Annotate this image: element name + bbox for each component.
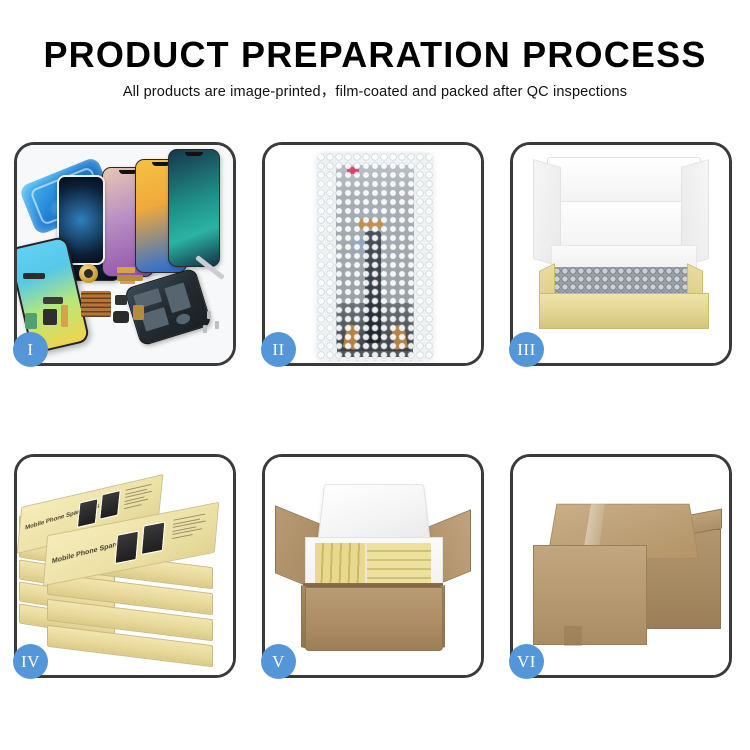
process-step-panel-2: II: [262, 142, 484, 366]
step-3-photo: [513, 145, 729, 363]
screw-icon: [207, 311, 211, 319]
small-part: [117, 275, 143, 281]
box-product-photo: [141, 521, 166, 555]
small-part: [43, 309, 57, 325]
step-5-photo: [265, 457, 481, 675]
small-part: [23, 273, 45, 279]
box-product-photo: [77, 498, 99, 528]
process-step-panel-4: Mobile Phone Spare Parts Mobile Phone Sp…: [14, 454, 236, 678]
box-spec-lines: [123, 483, 153, 512]
kraft-box-stack: Mobile Phone Spare Parts Mobile Phone Sp…: [17, 457, 233, 675]
process-step-grid: I II: [14, 142, 736, 678]
process-step-panel-6: VI: [510, 454, 732, 678]
copper-mesh-pad-icon: [81, 291, 111, 317]
step-badge-3: III: [509, 332, 544, 367]
flex-cable-icon: [61, 305, 68, 327]
step-badge-5: V: [261, 644, 296, 679]
step-badge-4: IV: [13, 644, 48, 679]
process-step-panel-1: I: [14, 142, 236, 366]
screw-icon: [203, 325, 207, 333]
small-part: [43, 297, 63, 304]
sealed-carton-icon: [529, 483, 721, 651]
vibration-motor-icon: [79, 264, 98, 283]
carton-seam: [564, 626, 582, 646]
step-badge-1: I: [13, 332, 48, 367]
flex-cable-icon: [117, 267, 135, 273]
poster-header: PRODUCT PREPARATION PROCESS All products…: [0, 34, 750, 101]
notch-icon: [185, 152, 203, 156]
page-title: PRODUCT PREPARATION PROCESS: [0, 34, 750, 76]
bubble-texture: [317, 153, 433, 361]
step-6-photo: [513, 457, 729, 675]
box-product-photo: [99, 490, 121, 520]
box-lid-icon: [547, 157, 701, 207]
step-1-photo: [17, 145, 233, 363]
carton-front-wall: [305, 587, 443, 651]
process-step-panel-3: III: [510, 142, 732, 366]
small-part: [133, 305, 144, 320]
small-part: [115, 295, 127, 305]
step-2-photo: [265, 145, 481, 363]
step-badge-6: VI: [509, 644, 544, 679]
process-step-panel-5: V: [262, 454, 484, 678]
carton-front-face: [533, 545, 647, 645]
product-preparation-poster: PRODUCT PREPARATION PROCESS All products…: [0, 0, 750, 750]
bubble-wrap-bag-icon: [317, 153, 433, 361]
small-part: [113, 311, 129, 323]
phone-icon-4: [168, 149, 220, 267]
foam-lid-icon: [317, 484, 430, 542]
page-subtitle: All products are image-printed，film-coat…: [0, 83, 750, 101]
step-badge-2: II: [261, 332, 296, 367]
box-front-wall: [539, 293, 709, 329]
step-4-photo: Mobile Phone Spare Parts Mobile Phone Sp…: [17, 457, 233, 675]
screw-icon: [215, 321, 219, 329]
box-spec-lines: [172, 513, 208, 542]
small-part: [25, 313, 37, 329]
box-product-photo: [115, 530, 140, 564]
